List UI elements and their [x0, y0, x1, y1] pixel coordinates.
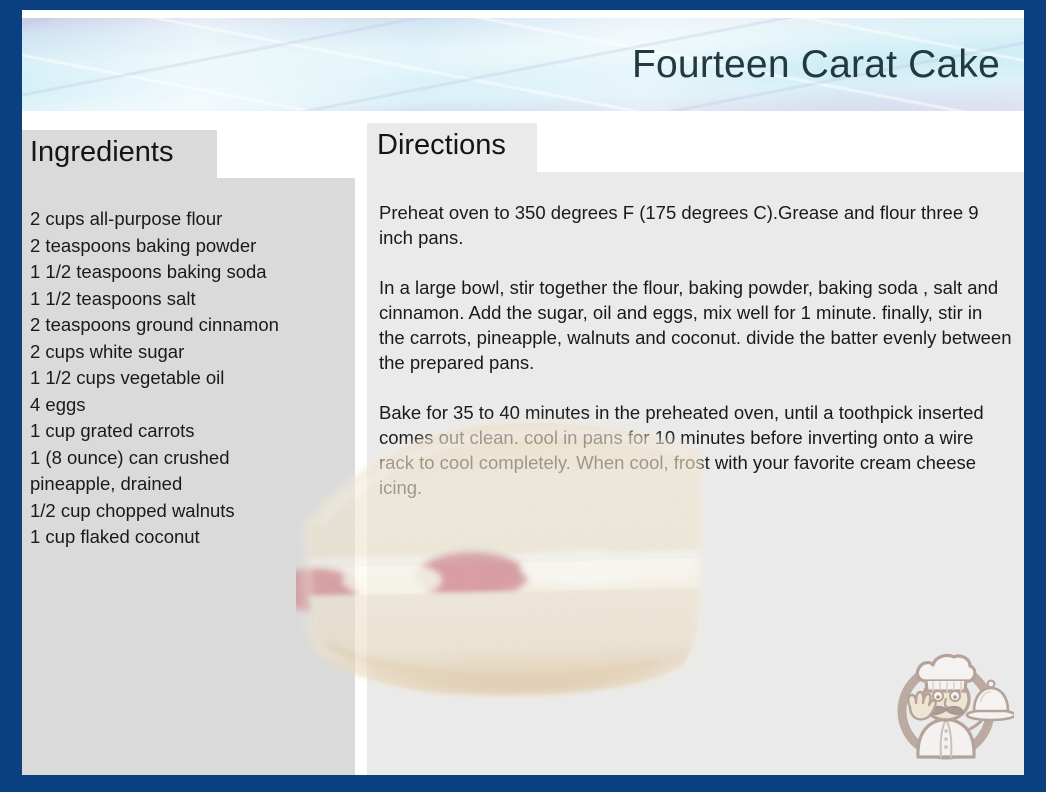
list-item: 2 cups white sugar — [30, 339, 345, 366]
ingredients-list: 2 cups all-purpose flour 2 teaspoons bak… — [22, 178, 355, 775]
list-item: 1 (8 ounce) can crushed — [30, 445, 345, 472]
direction-step: Bake for 35 to 40 minutes in the preheat… — [379, 400, 1012, 500]
ingredients-panel: Ingredients 2 cups all-purpose flour 2 t… — [22, 130, 355, 775]
list-item: 4 eggs — [30, 392, 345, 419]
recipe-card: Fourteen Carat Cake Ingredients 2 cups a… — [0, 0, 1046, 792]
list-item: 2 cups all-purpose flour — [30, 206, 345, 233]
list-item: 1 1/2 teaspoons baking soda — [30, 259, 345, 286]
list-item: 1 cup grated carrots — [30, 418, 345, 445]
list-item: 1 1/2 teaspoons salt — [30, 286, 345, 313]
list-item: 2 teaspoons ground cinnamon — [30, 312, 345, 339]
ingredients-heading: Ingredients — [30, 136, 174, 169]
directions-panel: Directions Preheat oven to 350 degrees F… — [367, 123, 1024, 775]
list-item: 1/2 cup chopped walnuts — [30, 498, 345, 525]
list-item: 1 cup flaked coconut — [30, 524, 345, 551]
card-inner-surface: Fourteen Carat Cake Ingredients 2 cups a… — [22, 10, 1024, 775]
directions-heading-box: Directions — [367, 123, 537, 172]
direction-step: Preheat oven to 350 degrees F (175 degre… — [379, 200, 1012, 250]
direction-step: In a large bowl, stir together the flour… — [379, 275, 1012, 375]
directions-heading: Directions — [377, 129, 506, 162]
directions-text: Preheat oven to 350 degrees F (175 degre… — [367, 172, 1024, 775]
list-item: 2 teaspoons baking powder — [30, 233, 345, 260]
ingredients-heading-box: Ingredients — [22, 130, 217, 178]
list-item: 1 1/2 cups vegetable oil — [30, 365, 345, 392]
list-item: pineapple, drained — [30, 471, 345, 498]
page-title: Fourteen Carat Cake — [632, 43, 1000, 87]
header-banner: Fourteen Carat Cake — [22, 18, 1024, 111]
